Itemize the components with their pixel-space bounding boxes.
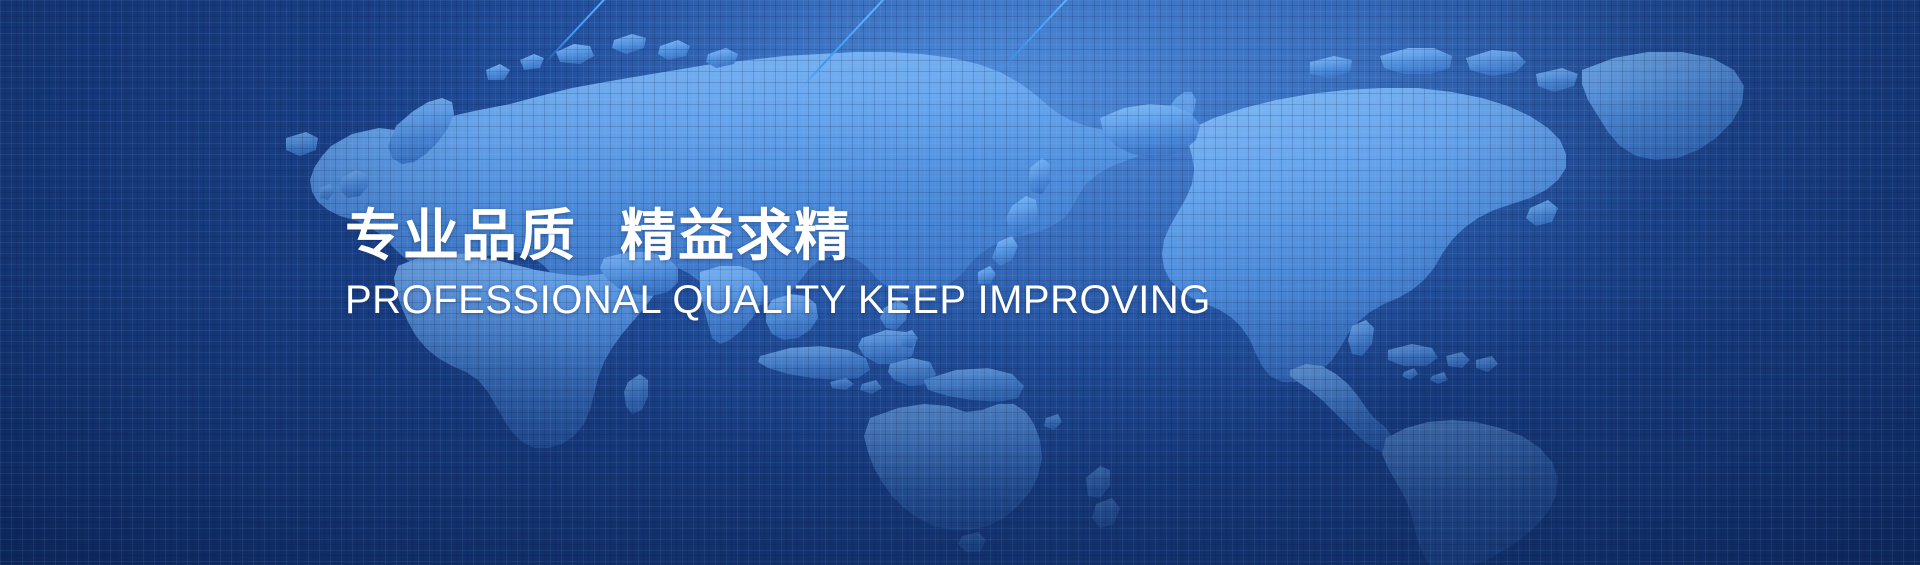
streak-right-icon (999, 0, 1120, 72)
banner-text-block: 专业品质 精益求精 PROFESSIONAL QUALITY KEEP IMPR… (345, 205, 1245, 323)
headline-chinese: 专业品质 精益求精 (345, 205, 1245, 269)
streak-middle-icon (799, 0, 927, 90)
hero-banner: 专业品质 精益求精 PROFESSIONAL QUALITY KEEP IMPR… (0, 0, 1920, 565)
streak-left-icon (544, 0, 665, 64)
headline-english: PROFESSIONAL QUALITY KEEP IMPROVING (345, 277, 1245, 323)
